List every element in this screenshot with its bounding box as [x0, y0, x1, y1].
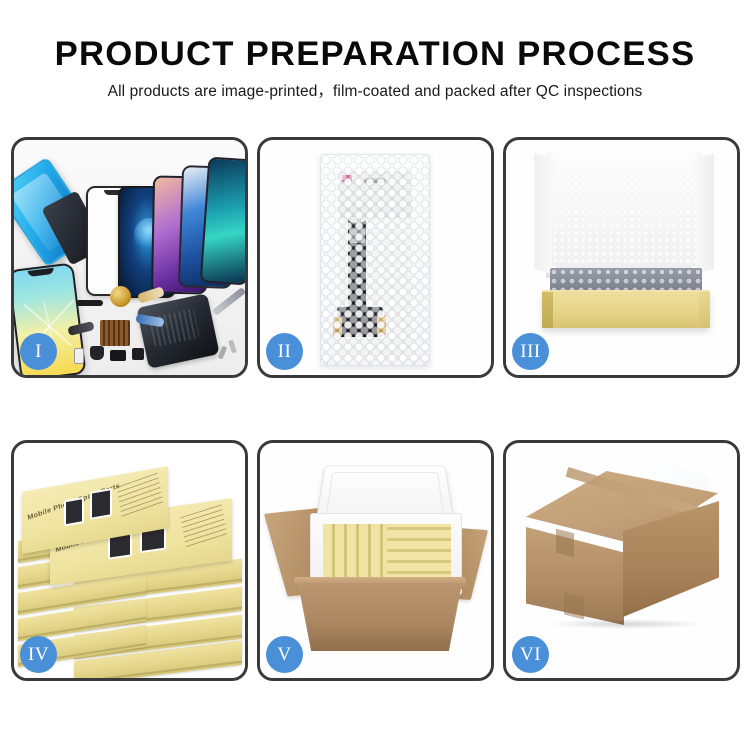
header: PRODUCT PREPARATION PROCESS All products…	[0, 0, 750, 102]
packed-yellow-boxes	[323, 524, 451, 582]
page-subtitle: All products are image-printed，film-coat…	[0, 82, 750, 102]
step-panel-6: VI	[503, 440, 740, 681]
box-window-screen-image	[64, 497, 84, 527]
carton-body	[298, 583, 462, 651]
speaker-grille-part-icon	[76, 300, 103, 306]
small-black-part-icon	[110, 350, 126, 361]
copper-chip-part-icon	[100, 320, 130, 346]
vibration-motor-part-icon	[90, 346, 104, 360]
carton-ground-shadow	[546, 619, 706, 629]
yellow-box-tray-icon	[542, 292, 710, 328]
phone-back-housing-icon	[136, 293, 219, 369]
bubble-wrap-bag-icon	[320, 154, 430, 366]
box-spec-lines	[116, 473, 163, 520]
step-panel-2: II	[257, 137, 494, 378]
step-badge-1: I	[20, 333, 57, 370]
step-panel-3: III	[503, 137, 740, 378]
tweezers-tool-icon	[212, 287, 245, 316]
yellow-box-rows-secondary	[387, 524, 451, 582]
step-badge-5: V	[266, 636, 303, 673]
step-badge-3: III	[512, 333, 549, 370]
page-title: PRODUCT PREPARATION PROCESS	[0, 34, 750, 74]
step-panel-4: Mobile Phone Spare Parts Mobile Phone Sp…	[11, 440, 248, 681]
carton-seam-lower	[564, 593, 584, 620]
teal-gradient-phone-icon	[200, 156, 245, 285]
step-panel-1: I	[11, 137, 248, 378]
process-steps-grid: I II	[11, 137, 740, 681]
step-badge-6: VI	[512, 636, 549, 673]
step-panel-5: V	[257, 440, 494, 681]
product-preparation-infographic: PRODUCT PREPARATION PROCESS All products…	[0, 0, 750, 750]
bubble-texture-overlay-secondary	[321, 155, 429, 365]
foam-sheet-icon	[552, 174, 696, 266]
screw-part-icon	[218, 346, 228, 360]
box-stack: Mobile Phone Spare Parts Mobile Phone Sp…	[18, 465, 245, 665]
step-badge-2: II	[266, 333, 303, 370]
gold-camera-ring-part-icon	[110, 286, 131, 307]
small-square-part-icon	[132, 348, 144, 360]
carton-seam-upper	[556, 529, 574, 557]
step-badge-4: IV	[20, 636, 57, 673]
box-spec-lines	[180, 504, 227, 550]
box-window-screen-image	[90, 488, 112, 520]
sim-tray-part-icon	[74, 348, 84, 364]
screw-part-icon	[228, 340, 237, 354]
